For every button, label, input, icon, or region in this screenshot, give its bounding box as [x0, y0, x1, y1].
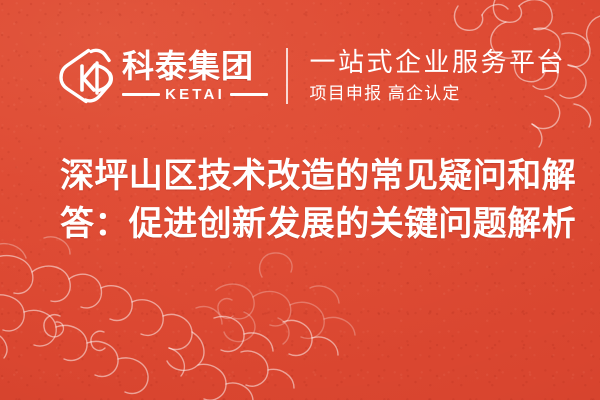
logo-wordmark: 科泰集团 KETAI — [122, 45, 268, 107]
header-tagline: 一站式企业服务平台 项目申报 高企认定 — [310, 48, 567, 104]
banner-header: 科泰集团 KETAI 一站式企业服务平台 项目申报 高企认定 — [58, 42, 566, 110]
logo-dash-left — [122, 93, 160, 96]
tagline-main: 一站式企业服务平台 — [310, 48, 567, 77]
logo-company-name-en: KETAI — [160, 87, 230, 102]
logo-company-name-cn: 科泰集团 — [122, 50, 268, 82]
logo-company-name-en-row: KETAI — [122, 87, 268, 102]
tagline-sub: 项目申报 高企认定 — [310, 85, 567, 104]
header-divider — [286, 48, 288, 104]
title-line-2: 答：促进创新发展的关键问题解析 — [60, 200, 565, 248]
ketai-diamond-k-logo-icon — [58, 46, 114, 106]
title-line-1: 深坪山区技术改造的常见疑问和解 — [60, 152, 565, 200]
promo-banner: 科泰集团 KETAI 一站式企业服务平台 项目申报 高企认定 深坪山区技术改造的… — [0, 0, 600, 400]
banner-title: 深坪山区技术改造的常见疑问和解 答：促进创新发展的关键问题解析 — [60, 152, 565, 248]
logo-dash-right — [230, 93, 268, 96]
